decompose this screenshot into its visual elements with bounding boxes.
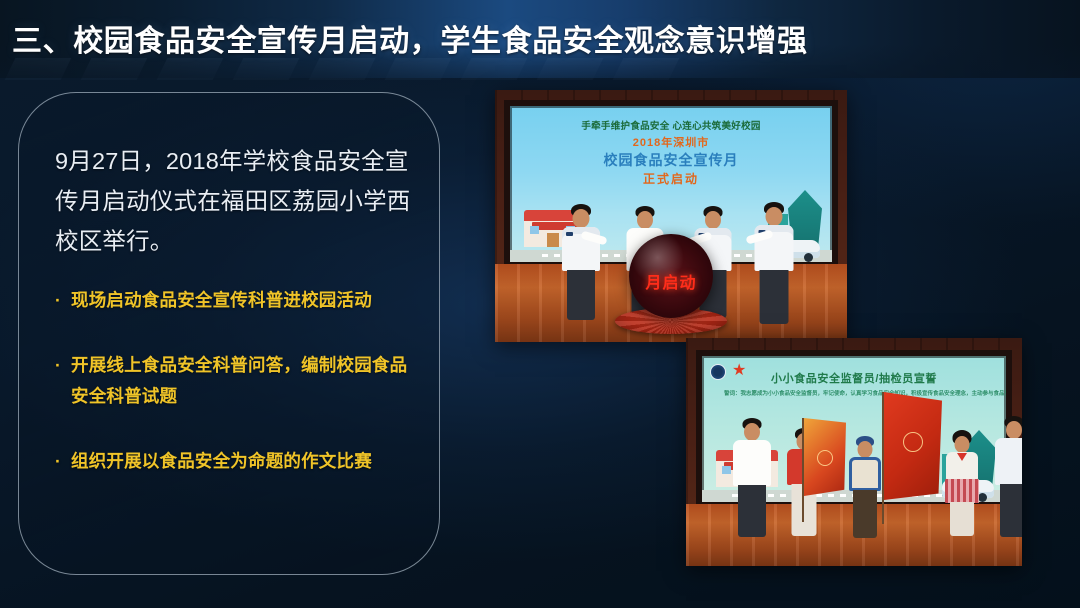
- slide-root: 三、校园食品安全宣传月启动，学生食品安全观念意识增强 9月27日，2018年学校…: [0, 0, 1080, 608]
- led-caption-line-1: 手牵手维护食品安全 心连心共筑美好校园: [510, 118, 832, 132]
- person-adult-right: [992, 416, 1022, 540]
- intro-paragraph: 9月27日，2018年学校食品安全宣传月启动仪式在福田区荔园小学西校区举行。: [55, 141, 417, 261]
- person-official-4: [751, 202, 797, 328]
- bullet-label-1: 现场启动食品安全宣传科普进校园活动: [71, 290, 372, 310]
- led-oath-body: 誓词：我志愿成为小小食品安全监督员，牢记使命，认真学习食品安全知识，积极宣传食品…: [702, 390, 1006, 399]
- bullet-item-1: · 现场启动食品安全宣传科普进校园活动: [55, 285, 417, 316]
- bullet-marker-icon: ·: [55, 285, 61, 316]
- launch-ball-text: 月启动: [629, 269, 713, 293]
- person-student-girl: [942, 430, 982, 540]
- led-oath-title: 小小食品安全监督员/抽检员宣誓: [702, 370, 1006, 386]
- bullet-marker-icon: ·: [55, 446, 61, 477]
- flag-small: [802, 418, 848, 522]
- launch-ball: 月启动: [629, 234, 713, 318]
- led-caption-line-3: 校园食品安全宣传月: [510, 150, 832, 170]
- bullet-label-2: 开展线上食品安全科普问答，编制校园食品安全科普试题: [71, 355, 407, 406]
- card-content: 9月27日，2018年学校食品安全宣传月启动仪式在福田区荔园小学西校区举行。 ·…: [55, 141, 417, 477]
- flag-large: [882, 392, 944, 524]
- person-student-boy: [846, 436, 884, 540]
- person-official-1: [559, 204, 603, 324]
- header-stripe-decoration: [0, 58, 760, 80]
- person-adult-left: [730, 418, 774, 540]
- photo-launch-ceremony: 手牵手维护食品安全 心连心共筑美好校园 2018年深圳市 校园食品安全宣传月 正…: [495, 90, 847, 342]
- bullet-label-3: 组织开展以食品安全为命题的作文比赛: [71, 451, 372, 471]
- photo-oath-ceremony: ★ 小小食品安全监督员/抽检员宣誓 誓词：我志愿成为小小食品安全监督员，牢记使命…: [686, 338, 1022, 566]
- bullet-item-2: · 开展线上食品安全科普问答，编制校园食品安全科普试题: [55, 350, 417, 412]
- page-title: 三、校园食品安全宣传月启动，学生食品安全观念意识增强: [12, 16, 1012, 60]
- text-card: 9月27日，2018年学校食品安全宣传月启动仪式在福田区荔园小学西校区举行。 ·…: [18, 92, 440, 575]
- bullet-list: · 现场启动食品安全宣传科普进校园活动 · 开展线上食品安全科普问答，编制校园食…: [55, 285, 417, 477]
- bullet-marker-icon: ·: [55, 350, 61, 381]
- led-caption-line-2: 2018年深圳市: [510, 134, 832, 150]
- led-caption-line-4: 正式启动: [510, 170, 832, 187]
- bullet-item-3: · 组织开展以食品安全为命题的作文比赛: [55, 446, 417, 477]
